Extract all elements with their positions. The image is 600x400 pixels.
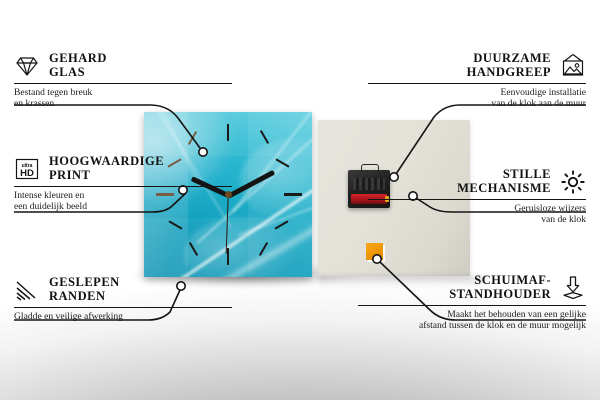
svg-text:HD: HD (20, 168, 34, 179)
feature-geslepen-randen[interactable]: GESLEPEN RANDEN Gladde en veilige afwerk… (14, 276, 232, 322)
feature-subtitle: Eenvoudige installatie van de klok aan d… (368, 87, 586, 110)
diamond-icon (14, 53, 40, 79)
diagonal-lines-icon (14, 277, 40, 303)
feature-hoogwaardige-print[interactable]: ultra HD HOOGWAARDIGE PRINT Intense kleu… (14, 155, 232, 213)
feature-subtitle: Geruisloze wijzers van de klok (368, 203, 586, 226)
feature-divider (14, 307, 232, 308)
feature-title: DUURZAME HANDGREEP (467, 52, 551, 79)
feature-schuimafstandhouder[interactable]: SCHUIMAF- STANDHOUDER Maakt het behouden… (358, 274, 586, 332)
gear-icon (560, 169, 586, 195)
picture-frame-icon (560, 53, 586, 79)
clock-tick-3 (284, 193, 302, 196)
ultra-hd-icon: ultra HD (14, 156, 40, 182)
feature-subtitle: Gladde en veilige afwerking (14, 311, 232, 322)
feature-title: HOOGWAARDIGE PRINT (49, 155, 164, 182)
feature-title: GESLEPEN RANDEN (49, 276, 120, 303)
feature-subtitle: Bestand tegen breuk en krassen (14, 87, 232, 110)
infographic-canvas: GEHARD GLAS Bestand tegen breuk en krass… (0, 0, 600, 400)
feature-title: GEHARD GLAS (49, 52, 107, 79)
clock-tick-12 (227, 124, 229, 141)
feature-gehard-glas[interactable]: GEHARD GLAS Bestand tegen breuk en krass… (14, 52, 232, 110)
clock-tick-6 (227, 248, 229, 265)
feature-divider (14, 186, 232, 187)
feature-divider (358, 305, 586, 306)
orange-foam-spacer (366, 243, 383, 260)
feature-divider (368, 83, 586, 84)
press-down-arrow-icon (560, 275, 586, 301)
feature-title: SCHUIMAF- STANDHOUDER (449, 274, 551, 301)
feature-divider (368, 199, 586, 200)
feature-stille-mechanisme[interactable]: STILLE MECHANISME Geruisloze wijzers van… (368, 168, 586, 226)
feature-title: STILLE MECHANISME (457, 168, 551, 195)
feature-subtitle: Maakt het behouden van een gelijke afsta… (358, 309, 586, 332)
feature-divider (14, 83, 232, 84)
feature-duurzame-handgreep[interactable]: DUURZAME HANDGREEP Eenvoudige installati… (368, 52, 586, 110)
feature-subtitle: Intense kleuren en een duidelijk beeld (14, 190, 232, 213)
